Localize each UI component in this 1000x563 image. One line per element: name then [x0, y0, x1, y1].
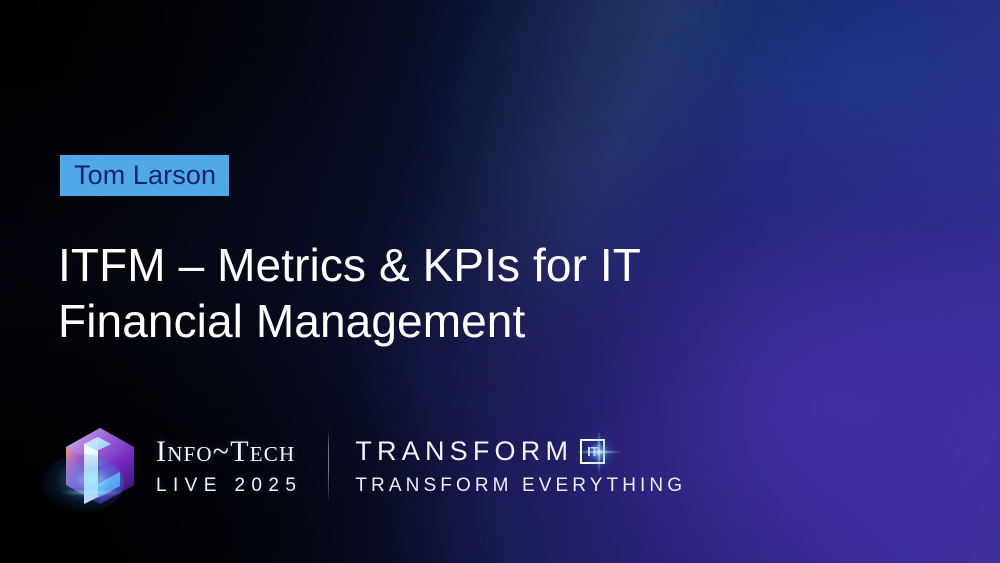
infotech-wordmark: Info~Tech LIVE 2025: [156, 437, 302, 495]
infotech-live-year-text: LIVE 2025: [156, 476, 302, 495]
infotech-live-logo: Info~Tech LIVE 2025: [58, 424, 302, 508]
it-square-outline: IT: [580, 439, 605, 464]
transform-wordmark-row: TRANSFORM IT: [355, 438, 686, 465]
it-square-icon: IT: [580, 439, 605, 464]
it-square-label: IT: [587, 445, 598, 458]
speaker-name-text: Tom Larson: [74, 162, 216, 189]
page-title: ITFM – Metrics & KPIs for IT Financial M…: [58, 237, 758, 349]
logo-divider: [328, 430, 329, 502]
infotech-name-text: Info~Tech: [156, 437, 302, 467]
logo-row: Info~Tech LIVE 2025 TRANSFORM IT: [58, 424, 686, 508]
transform-name-text: TRANSFORM: [355, 438, 573, 465]
title-slide: Tom Larson ITFM – Metrics & KPIs for IT …: [0, 0, 1000, 563]
transform-tagline-text: TRANSFORM EVERYTHING: [355, 476, 686, 495]
infotech-cube-l-icon: [58, 424, 142, 508]
transform-logo: TRANSFORM IT TRANSFORM EVERYTHING: [355, 424, 686, 508]
speaker-name-badge: Tom Larson: [60, 155, 229, 196]
